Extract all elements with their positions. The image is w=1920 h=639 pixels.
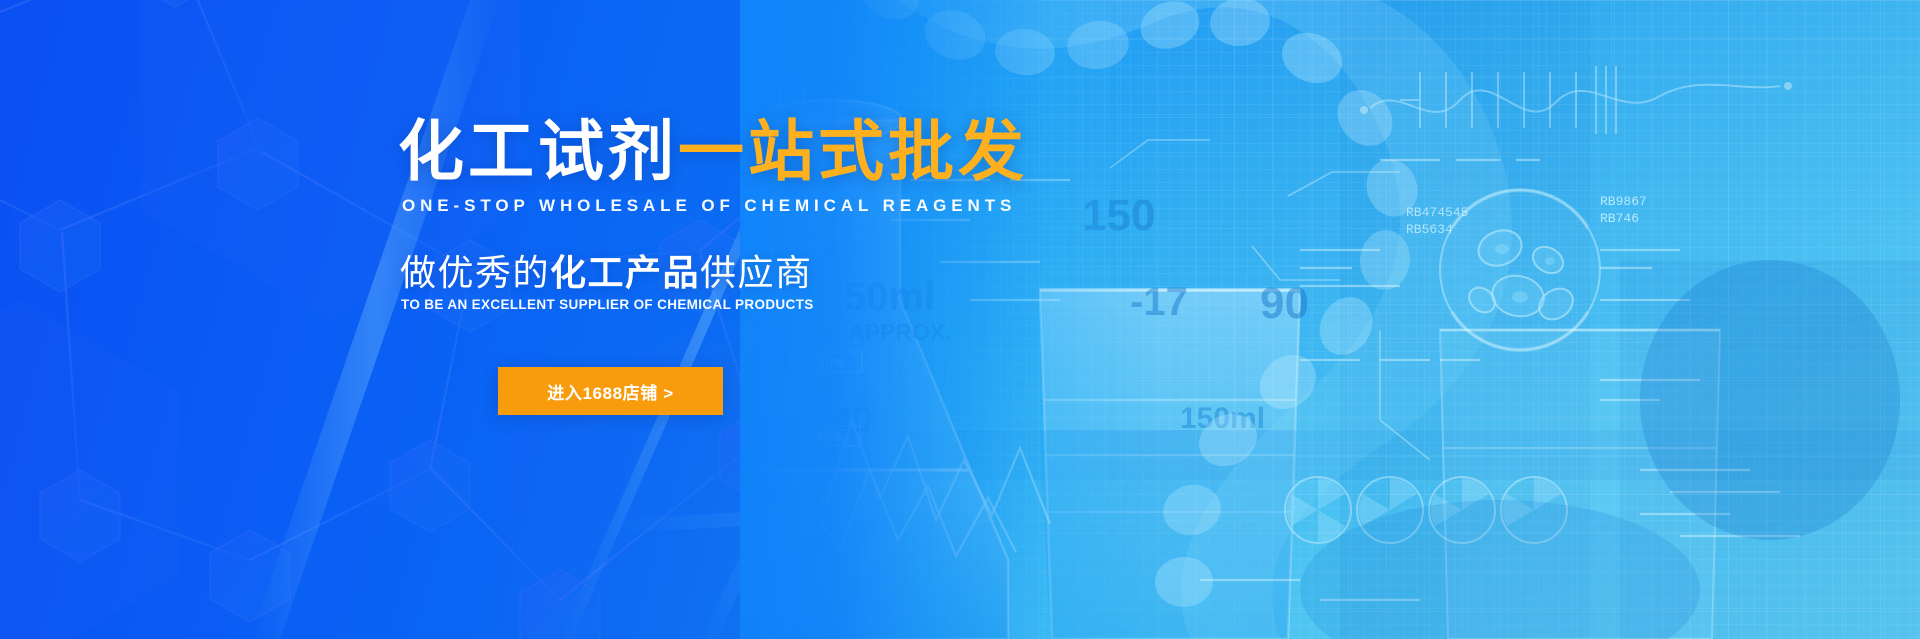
tagline: 做优秀的化工产品供应商 [400,255,813,291]
radiation-dials [1285,477,1567,543]
page-title: 化工试剂一站式批发 [398,118,1028,184]
tagline-subtitle-en: TO BE AN EXCELLENT SUPPLIER OF CHEMICAL … [401,297,814,312]
svg-text:-17: -17 [1130,280,1188,324]
headline-subtitle-en: ONE-STOP WHOLESALE OF CHEMICAL REAGENTS [402,196,1016,216]
svg-text:RB474545: RB474545 [1406,205,1468,220]
svg-text:RB746: RB746 [1600,211,1639,226]
headline-orange-part: 一站式批发 [678,114,1028,188]
headline-white-part: 化工试剂 [398,114,678,188]
enter-1688-store-button[interactable]: 进入1688店铺 > [498,367,723,415]
tagline-strong: 化工产品 [550,252,700,293]
svg-text:RB9867: RB9867 [1600,194,1647,209]
beaker-secondary [1440,330,1720,639]
banner-content: 化工试剂一站式批发 ONE-STOP WHOLESALE OF CHEMICAL… [398,0,1098,639]
hero-banner: 50ml APPROX. 40 150ml 150 -17 90 40% 75%… [0,0,1920,639]
svg-text:RB5634: RB5634 [1406,222,1453,237]
tagline-suffix: 供应商 [700,252,813,293]
svg-text:90: 90 [1260,279,1309,328]
tagline-prefix: 做优秀的 [400,252,550,293]
svg-text:150ml: 150ml [1180,402,1265,435]
waveform-graph [1360,66,1792,134]
petri-dish-cells [1440,190,1600,350]
